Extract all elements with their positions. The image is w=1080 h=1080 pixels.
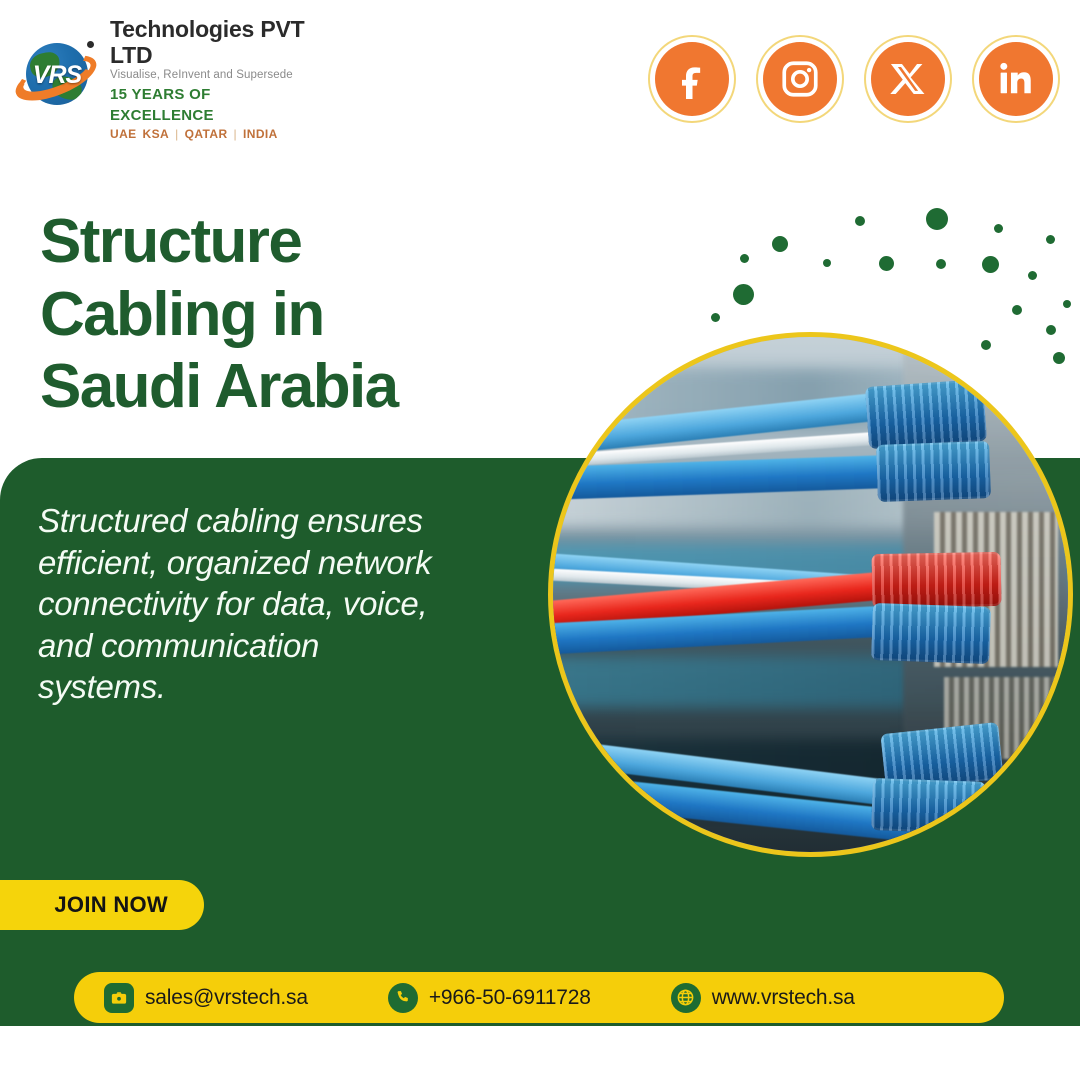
decorative-dot <box>855 216 865 226</box>
decorative-dot <box>740 254 749 263</box>
region-ksa: KSA <box>143 127 170 141</box>
photo-plug-blue <box>876 441 991 502</box>
vrs-monogram: VRS <box>24 61 90 90</box>
instagram-icon <box>763 42 837 116</box>
x-twitter-icon <box>871 42 945 116</box>
decorative-dot <box>1063 300 1071 308</box>
hero-photo-image <box>553 337 1068 852</box>
headline-line-1: Structure <box>40 206 600 279</box>
headline-line-3: Saudi Arabia <box>40 351 600 424</box>
social-link-x-twitter[interactable] <box>864 35 952 123</box>
poster-canvas: VRS Technologies PVT LTD Visualise, ReIn… <box>0 0 1080 1080</box>
social-link-instagram[interactable] <box>756 35 844 123</box>
phone-icon <box>388 983 418 1013</box>
social-link-facebook[interactable] <box>648 35 736 123</box>
contact-email[interactable]: sales@vrstech.sa <box>104 983 308 1013</box>
page-title: Structure Cabling in Saudi Arabia <box>40 206 600 424</box>
linkedin-icon <box>979 42 1053 116</box>
join-now-label: JOIN NOW <box>54 892 168 918</box>
brand-regions: UAE KSA | QATAR | INDIA <box>110 127 314 141</box>
region-qatar: QATAR <box>185 127 228 141</box>
decorative-dot <box>1046 325 1056 335</box>
decorative-dot <box>1028 271 1037 280</box>
region-india: INDIA <box>243 127 278 141</box>
photo-plug-ribs <box>865 379 987 449</box>
globe-web-icon <box>671 983 701 1013</box>
social-link-linkedin[interactable] <box>972 35 1060 123</box>
headline-line-2: Cabling in <box>40 279 600 352</box>
photo-plug-blue <box>871 603 991 664</box>
hero-photo <box>548 332 1073 857</box>
decorative-dot <box>994 224 1003 233</box>
contact-website-text: www.vrstech.sa <box>712 986 855 1010</box>
brand-tagline: Visualise, ReInvent and Supersede <box>110 69 314 83</box>
photo-plug-ribs <box>872 552 1002 608</box>
brand-text-block: Technologies PVT LTD Visualise, ReInvent… <box>110 15 314 140</box>
photo-plug-red <box>872 552 1002 608</box>
facebook-icon <box>655 42 729 116</box>
decorative-dot <box>936 259 946 269</box>
photo-plug-blue <box>871 778 986 833</box>
body-description: Structured cabling ensures efficient, or… <box>38 500 438 708</box>
decorative-dot <box>926 208 948 230</box>
photo-plug-ribs <box>871 778 986 833</box>
decorative-dot <box>1012 305 1022 315</box>
photo-plug-ribs <box>871 603 991 664</box>
email-camera-icon <box>104 983 134 1013</box>
photo-plug-blue <box>865 379 987 449</box>
brand-company-name: Technologies PVT LTD <box>110 17 314 68</box>
join-now-button[interactable]: JOIN NOW <box>0 880 204 930</box>
photo-plug-ribs <box>876 441 991 502</box>
region-uae: UAE <box>110 127 137 141</box>
logo-dot-icon <box>87 41 94 48</box>
decorative-dot <box>823 259 831 267</box>
decorative-dot <box>1046 235 1055 244</box>
brand-logo[interactable]: VRS Technologies PVT LTD Visualise, ReIn… <box>14 26 314 130</box>
contact-email-text: sales@vrstech.sa <box>145 986 308 1010</box>
decorative-dot <box>733 284 754 305</box>
region-separator: | <box>234 127 238 141</box>
vrs-globe-logo-icon: VRS <box>14 35 100 121</box>
contact-phone[interactable]: +966-50-6911728 <box>388 983 591 1013</box>
decorative-dot <box>772 236 788 252</box>
contact-website[interactable]: www.vrstech.sa <box>671 983 855 1013</box>
region-separator: | <box>175 127 179 141</box>
decorative-dot <box>711 313 720 322</box>
social-links <box>648 35 1060 123</box>
decorative-dot <box>982 256 999 273</box>
contact-bar: sales@vrstech.sa +966-50-6911728 www.vrs… <box>74 972 1004 1023</box>
contact-phone-text: +966-50-6911728 <box>429 986 591 1010</box>
brand-experience-badge: 15 YEARS OF EXCELLENCE <box>110 84 314 126</box>
decorative-dot <box>879 256 894 271</box>
